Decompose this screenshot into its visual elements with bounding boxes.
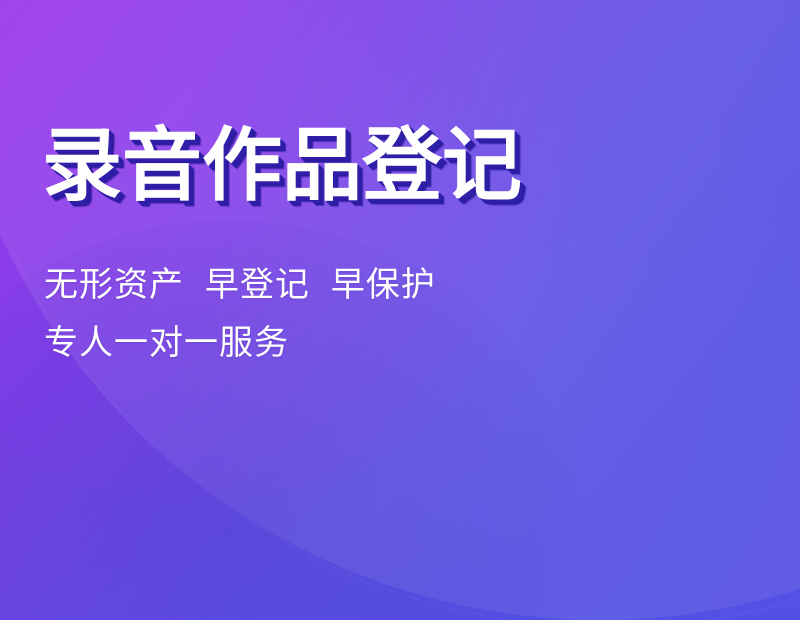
banner-subtitle-line-1: 无形资产 早登记 早保护 [44,268,436,302]
banner-headline: 录音作品登记 [42,126,522,206]
banner-content: 录音作品登记 无形资产 早登记 早保护 专人一对一服务 [42,0,782,620]
banner-subtitle-line-2: 专人一对一服务 [44,326,289,360]
promo-banner: 录音作品登记 无形资产 早登记 早保护 专人一对一服务 [0,0,800,620]
